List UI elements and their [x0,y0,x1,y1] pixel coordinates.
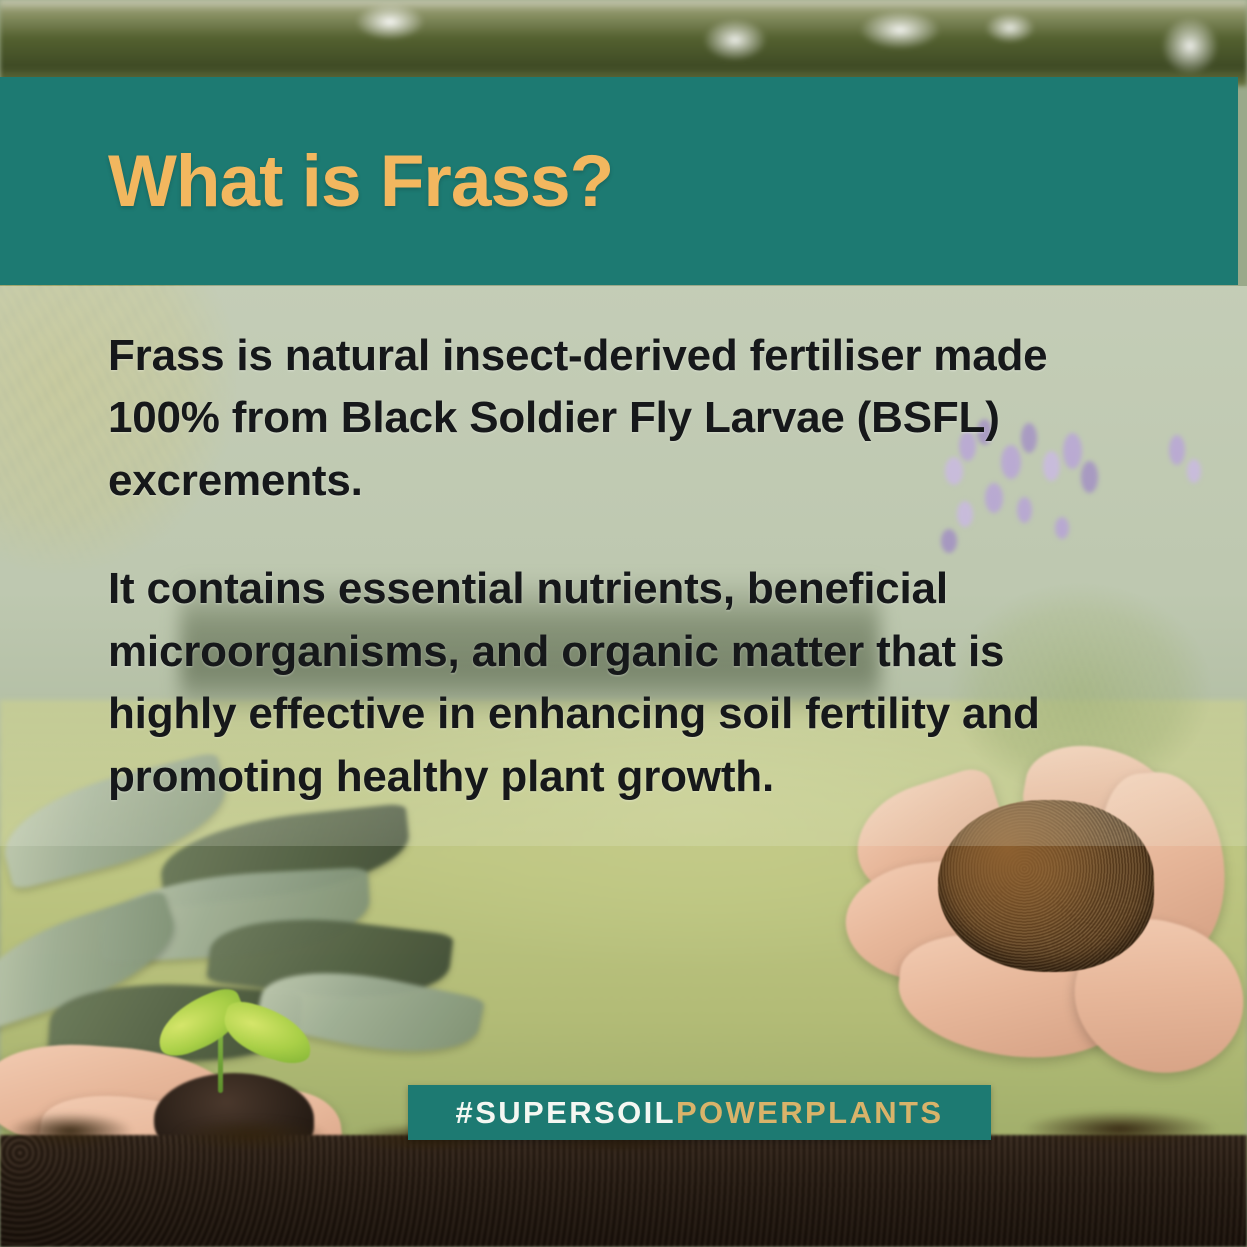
paragraph-2: It contains essential nutrients, benefic… [108,558,1098,808]
hashtag-secondary: POWERPLANTS [676,1097,944,1128]
page-title: What is Frass? [0,145,613,218]
header-bar: What is Frass? [0,77,1238,285]
frass-infographic-poster: What is Frass? Frass is natural insect-d… [0,0,1247,1247]
seedling-leaf-right [217,997,319,1068]
body-copy: Frass is natural insect-derived fertilis… [108,325,1098,808]
hashtag-primary: #SUPERSOIL [456,1097,676,1128]
paragraph-1: Frass is natural insect-derived fertilis… [108,325,1098,512]
hashtag-banner: #SUPERSOILPOWERPLANTS [408,1085,991,1140]
compost-soil-strip [0,1135,1247,1247]
